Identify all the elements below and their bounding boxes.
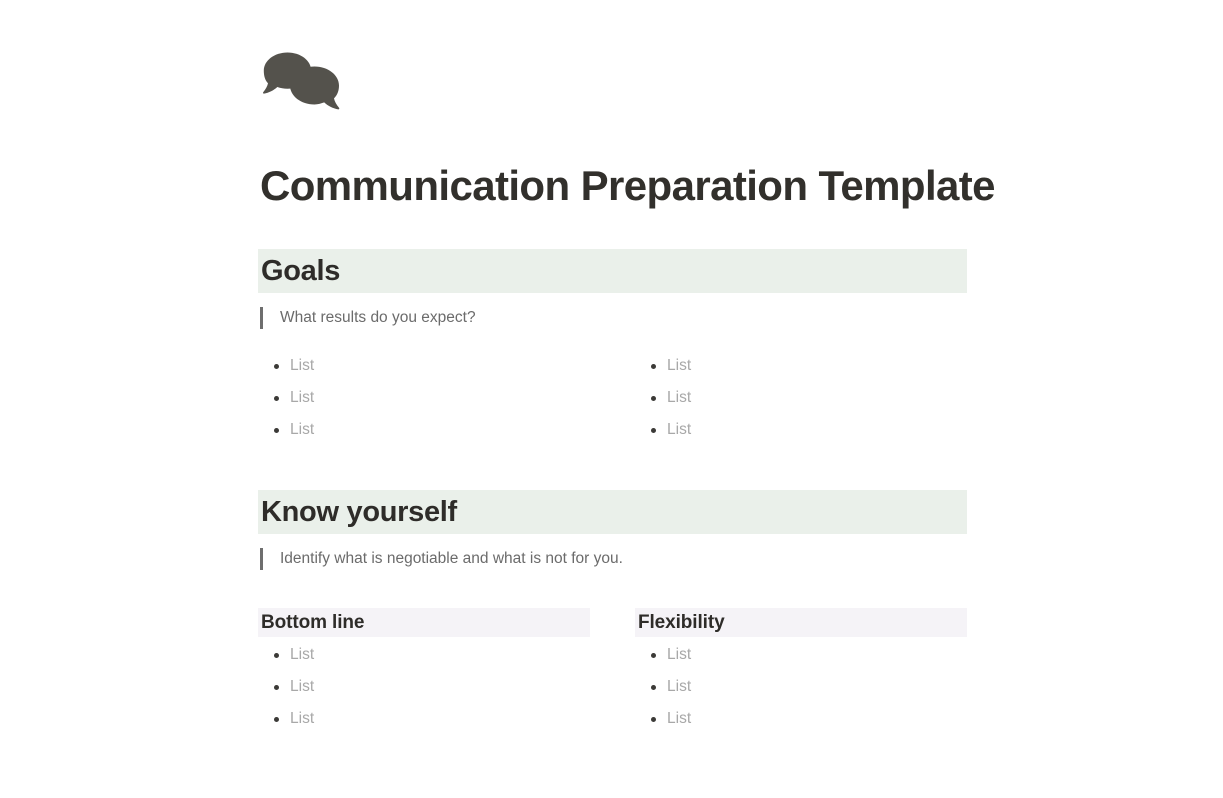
section-header-goals: Goals [258,249,967,293]
subsection-header-bottom-line: Bottom line [258,608,590,637]
section-title: Know yourself [261,495,457,529]
list-item[interactable]: List [258,639,590,671]
section-quote-know-yourself: Identify what is negotiable and what is … [260,548,623,570]
subsection-title: Bottom line [261,611,364,635]
list-item[interactable]: List [635,350,965,382]
quote-text: What results do you expect? [280,307,476,329]
list-item[interactable]: List [258,382,618,414]
flexibility-list: List List List [635,639,967,735]
list-item[interactable]: List [635,671,967,703]
section-title: Goals [261,254,340,288]
list-item[interactable]: List [635,639,967,671]
quote-text: Identify what is negotiable and what is … [280,548,623,570]
list-item[interactable]: List [258,414,618,446]
list-item[interactable]: List [258,671,590,703]
section-quote-goals: What results do you expect? [260,307,476,329]
speech-bubbles-icon [261,52,345,114]
list-item[interactable]: List [258,350,618,382]
quote-bar [260,307,263,329]
list-item[interactable]: List [258,703,590,735]
goals-list-left: List List List [258,350,618,446]
goals-list-right: List List List [635,350,965,446]
quote-bar [260,548,263,570]
section-header-know-yourself: Know yourself [258,490,967,534]
list-item[interactable]: List [635,703,967,735]
document-page: Communication Preparation Template Goals… [0,0,1223,798]
list-item[interactable]: List [635,382,965,414]
page-title: Communication Preparation Template [260,158,995,214]
list-item[interactable]: List [635,414,965,446]
subsection-title: Flexibility [638,611,725,635]
bottom-line-list: List List List [258,639,590,735]
subsection-header-flexibility: Flexibility [635,608,967,637]
